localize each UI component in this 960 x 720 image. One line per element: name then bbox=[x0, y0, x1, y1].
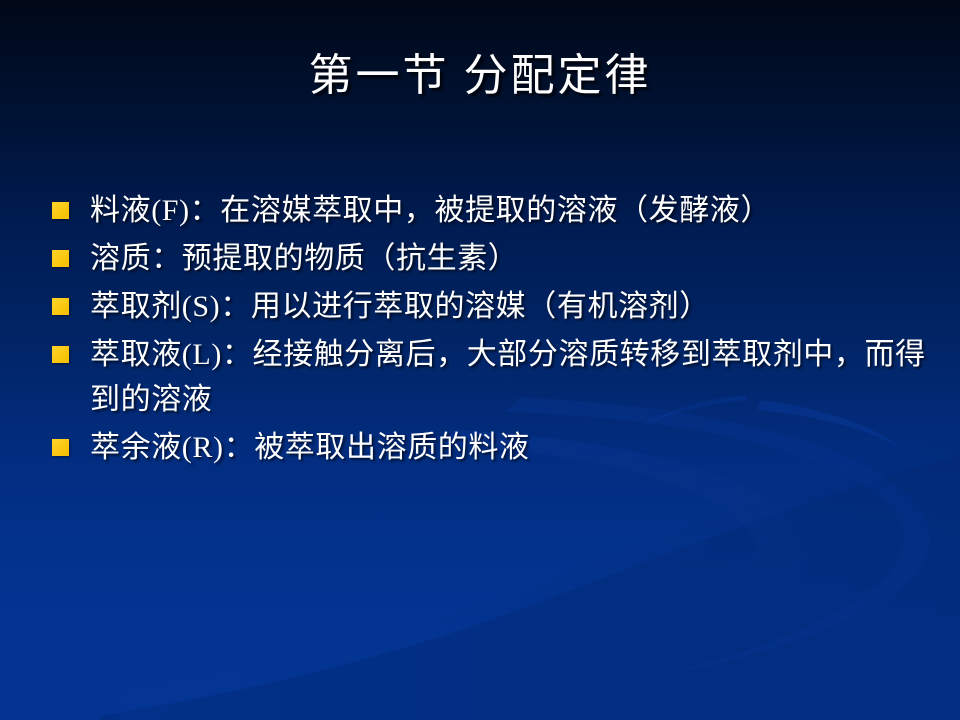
square-bullet-icon bbox=[52, 202, 69, 219]
list-item: 萃取液(L)：经接触分离后，大部分溶质转移到萃取剂中，而得到的溶液 bbox=[52, 332, 932, 422]
list-item: 溶质：预提取的物质（抗生素） bbox=[52, 236, 932, 281]
slide-title: 第一节 分配定律 bbox=[0, 52, 960, 100]
list-item-text: 溶质：预提取的物质（抗生素） bbox=[90, 236, 932, 281]
bullet-list: 料液(F)：在溶媒萃取中，被提取的溶液（发酵液） 溶质：预提取的物质（抗生素） … bbox=[52, 188, 932, 473]
list-item: 萃余液(R)：被萃取出溶质的料液 bbox=[52, 425, 932, 470]
list-item-text: 萃取剂(S)：用以进行萃取的溶媒（有机溶剂） bbox=[90, 284, 932, 329]
slide-title-text: 第一节 分配定律 bbox=[309, 52, 652, 100]
presentation-slide: 第一节 分配定律 料液(F)：在溶媒萃取中，被提取的溶液（发酵液） 溶质：预提取… bbox=[0, 0, 960, 720]
square-bullet-icon bbox=[52, 298, 69, 315]
list-item-text: 萃余液(R)：被萃取出溶质的料液 bbox=[90, 425, 932, 470]
square-bullet-icon bbox=[52, 439, 69, 456]
square-bullet-icon bbox=[52, 346, 69, 363]
list-item: 萃取剂(S)：用以进行萃取的溶媒（有机溶剂） bbox=[52, 284, 932, 329]
list-item-text: 萃取液(L)：经接触分离后，大部分溶质转移到萃取剂中，而得到的溶液 bbox=[90, 332, 932, 422]
list-item-text: 料液(F)：在溶媒萃取中，被提取的溶液（发酵液） bbox=[90, 188, 932, 233]
list-item: 料液(F)：在溶媒萃取中，被提取的溶液（发酵液） bbox=[52, 188, 932, 233]
square-bullet-icon bbox=[52, 250, 69, 267]
